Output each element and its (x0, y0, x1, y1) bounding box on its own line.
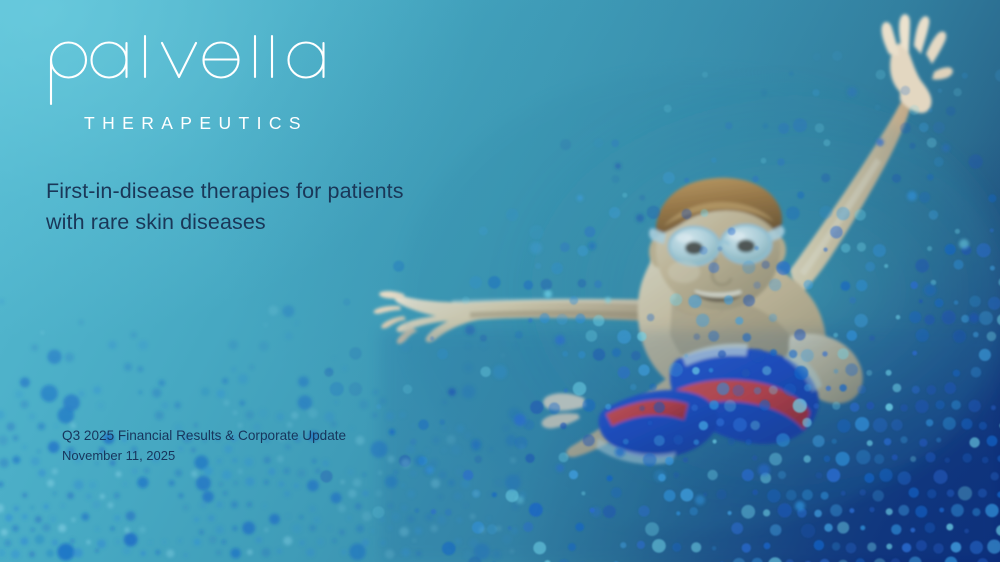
wordmark-therapeutics: THERAPEUTICS (84, 115, 466, 133)
tagline-line-2: with rare skin diseases (46, 207, 516, 238)
presentation-title: Q3 2025 Financial Results & Corporate Up… (62, 426, 346, 446)
title-slide: THERAPEUTICS First-in-disease therapies … (0, 0, 1000, 562)
brand-logo: THERAPEUTICS (46, 34, 466, 133)
presentation-date: November 11, 2025 (62, 447, 346, 466)
tagline-line-1: First-in-disease therapies for patients (46, 176, 516, 207)
slide-footer: Q3 2025 Financial Results & Corporate Up… (62, 426, 346, 466)
wordmark-palvella (46, 34, 334, 108)
tagline: First-in-disease therapies for patients … (46, 176, 516, 238)
